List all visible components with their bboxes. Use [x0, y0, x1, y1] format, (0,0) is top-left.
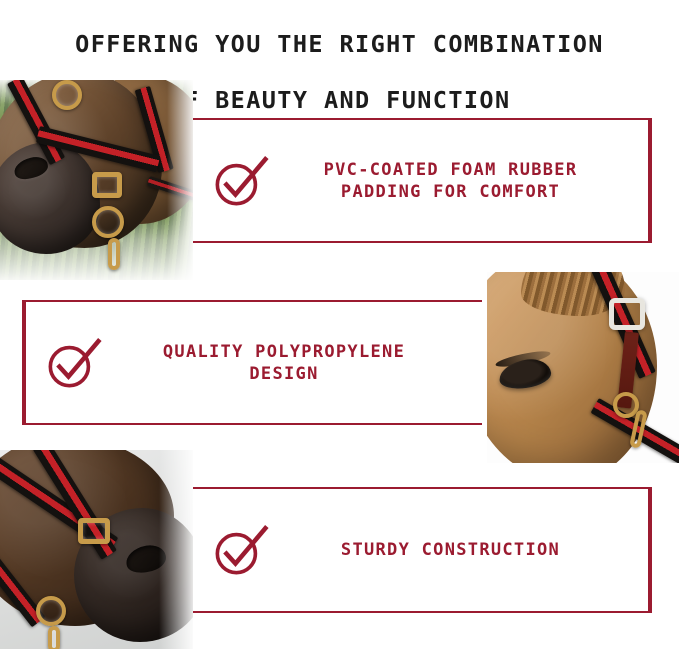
check-circle-icon — [44, 334, 102, 392]
brass-ring — [92, 206, 124, 238]
brass-ring — [52, 80, 82, 110]
feature-label-sturdy-construction: STURDY CONSTRUCTION — [279, 539, 648, 561]
feature-box-quality-polypropylene-design: QUALITY POLYPROPYLENE DESIGN — [22, 300, 482, 425]
feature-label-pvc-coated-foam-rubber-padding: PVC-COATED FOAM RUBBER PADDING FOR COMFO… — [279, 159, 648, 203]
brass-snap-hook — [108, 238, 120, 270]
brass-buckle — [78, 518, 110, 544]
photo-bay-horse-muzzle-halter — [0, 450, 193, 649]
photo-chestnut-horse-head-halter — [487, 272, 679, 463]
headline-line-1: OFFERING YOU THE RIGHT COMBINATION — [0, 30, 679, 58]
check-circle-icon — [211, 152, 269, 210]
infographic-page: OFFERING YOU THE RIGHT COMBINATION OF BE… — [0, 0, 679, 649]
brass-snap-hook — [48, 626, 60, 649]
feature-box-sturdy-construction: STURDY CONSTRUCTION — [193, 487, 652, 613]
halter-buckle — [609, 298, 645, 330]
feature-box-pvc-coated-foam-rubber-padding: PVC-COATED FOAM RUBBER PADDING FOR COMFO… — [193, 118, 652, 243]
check-circle-icon — [211, 521, 269, 579]
photo-horse-muzzle-halter-grass — [0, 80, 193, 280]
feature-label-quality-polypropylene-design: QUALITY POLYPROPYLENE DESIGN — [112, 341, 482, 385]
brass-ring — [36, 596, 66, 626]
brass-buckle — [92, 172, 122, 198]
